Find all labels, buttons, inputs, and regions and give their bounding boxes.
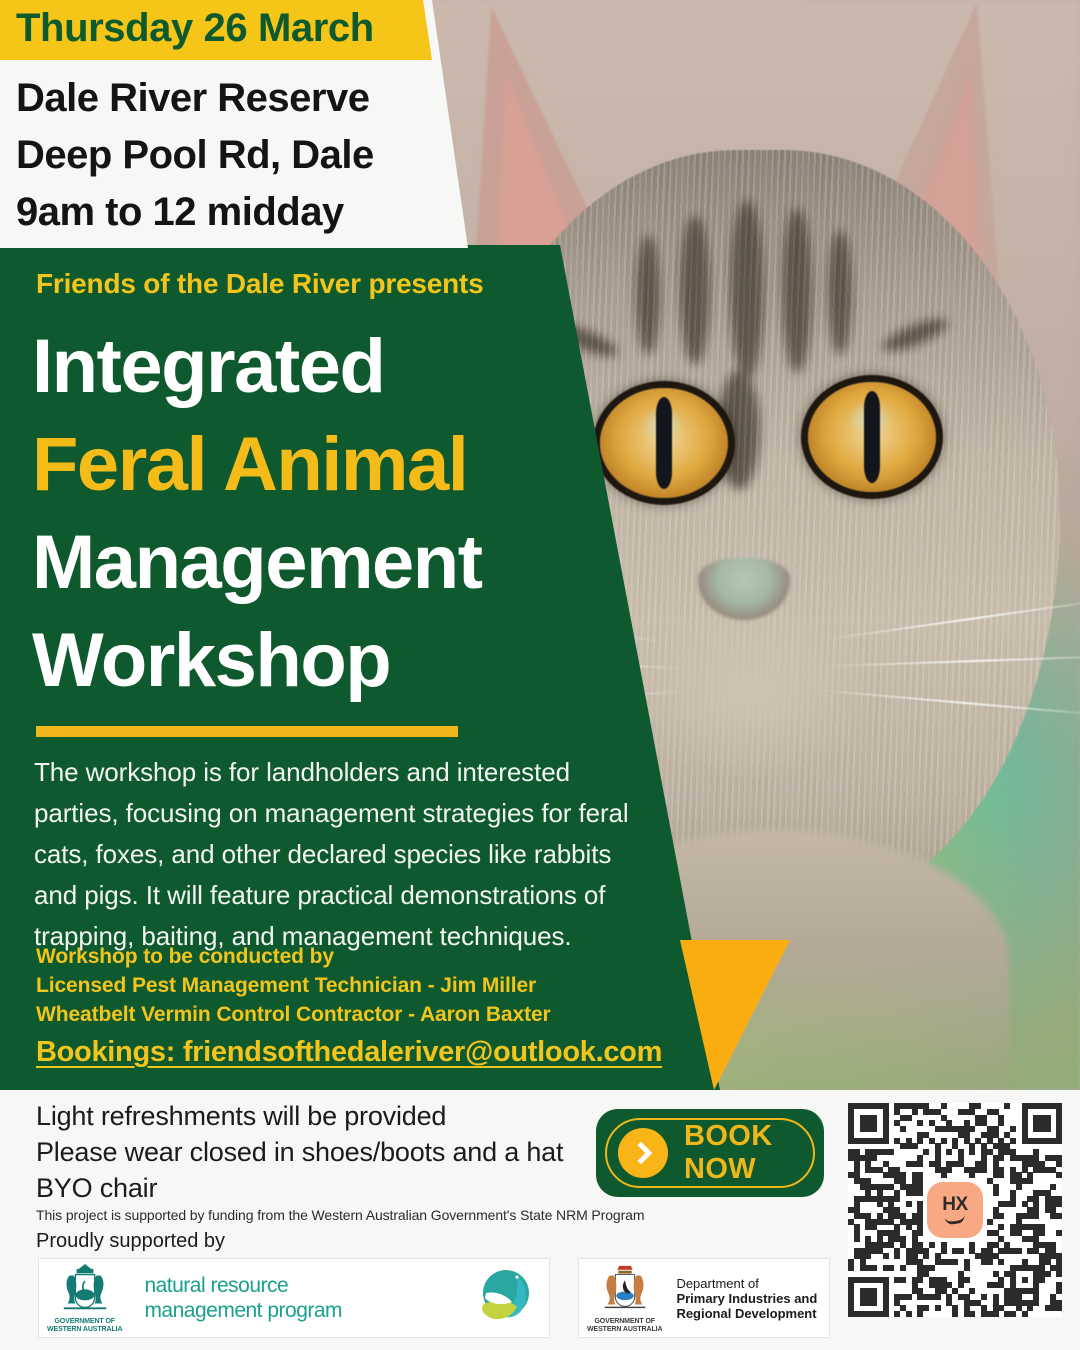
presenter-org-line: Friends of the Dale River presents — [36, 268, 484, 300]
qr-logo-smile-icon — [945, 1215, 966, 1226]
title-line-2: Feral Animal — [32, 416, 482, 514]
book-now-button[interactable]: BOOK NOW — [596, 1109, 824, 1197]
note-line-1: Light refreshments will be provided — [36, 1098, 563, 1134]
presenter-line-3: Wheatbelt Vermin Control Contractor - Aa… — [36, 1000, 551, 1029]
poster-root: Friends of the Dale River presents Integ… — [0, 0, 1080, 1350]
event-date: Thursday 26 March — [16, 6, 374, 51]
eye-pupil — [656, 397, 672, 489]
qr-code[interactable]: HX — [848, 1103, 1062, 1317]
title-line-4: Workshop — [32, 612, 482, 710]
book-now-label: BOOK NOW — [684, 1120, 824, 1186]
venue-line-1: Dale River Reserve — [16, 70, 374, 127]
dpird-logo-card: GOVERNMENT OF WESTERN AUSTRALIA Departme… — [578, 1258, 830, 1338]
nrm-leaf-droplet-icon — [473, 1267, 535, 1329]
wa-crest-caption: GOVERNMENT OF WESTERN AUSTRALIA — [587, 1318, 662, 1334]
dpird-line-2: Primary Industries and — [676, 1291, 817, 1306]
page-title: Integrated Feral Animal Management Works… — [32, 318, 482, 710]
dpird-line-1: Department of — [676, 1276, 817, 1291]
dpird-logo-text: Department of Primary Industries and Reg… — [676, 1276, 817, 1321]
wa-government-crest-dpird: GOVERNMENT OF WESTERN AUSTRALIA — [587, 1262, 662, 1334]
presenter-details: Workshop to be conducted by Licensed Pes… — [36, 942, 551, 1029]
presenter-line-1: Workshop to be conducted by — [36, 942, 551, 971]
presenter-line-2: Licensed Pest Management Technician - Ji… — [36, 971, 551, 1000]
event-venue: Dale River Reserve Deep Pool Rd, Dale 9a… — [16, 70, 374, 241]
qr-center-logo: HX — [927, 1182, 983, 1238]
attendee-notes: Light refreshments will be provided Plea… — [36, 1098, 563, 1206]
qr-logo-text: HX — [942, 1196, 967, 1214]
cat-muzzle — [620, 600, 880, 780]
nrm-logo-text: natural resource management program — [144, 1273, 342, 1323]
dpird-line-3: Regional Development — [676, 1306, 817, 1321]
eye-pupil — [864, 391, 880, 483]
cat-left-eye — [600, 388, 728, 498]
funding-statement: This project is supported by funding fro… — [36, 1207, 644, 1223]
title-line-3: Management — [32, 514, 482, 612]
chevron-right-icon — [618, 1128, 668, 1178]
note-line-2: Please wear closed in shoes/boots and a … — [36, 1134, 563, 1170]
title-underline-rule — [36, 726, 458, 737]
venue-line-3: 9am to 12 midday — [16, 184, 374, 241]
venue-line-2: Deep Pool Rd, Dale — [16, 127, 374, 184]
nrm-line-2: management program — [144, 1298, 342, 1323]
wa-crest-caption: GOVERNMENT OF WESTERN AUSTRALIA — [47, 1318, 122, 1334]
proudly-supported-label: Proudly supported by — [36, 1230, 225, 1253]
wa-crest-icon — [596, 1262, 654, 1318]
nrm-logo-card: GOVERNMENT OF WESTERN AUSTRALIA natural … — [38, 1258, 550, 1338]
title-line-1: Integrated — [32, 318, 482, 416]
body-description: The workshop is for landholders and inte… — [34, 752, 654, 957]
note-line-3: BYO chair — [36, 1170, 563, 1206]
bookings-email-link[interactable]: Bookings: friendsofthedaleriver@outlook.… — [36, 1036, 662, 1069]
wa-government-crest: GOVERNMENT OF WESTERN AUSTRALIA — [47, 1262, 122, 1334]
nrm-line-1: natural resource — [144, 1273, 342, 1298]
cat-right-eye — [808, 382, 936, 492]
wa-crest-icon — [56, 1262, 114, 1318]
